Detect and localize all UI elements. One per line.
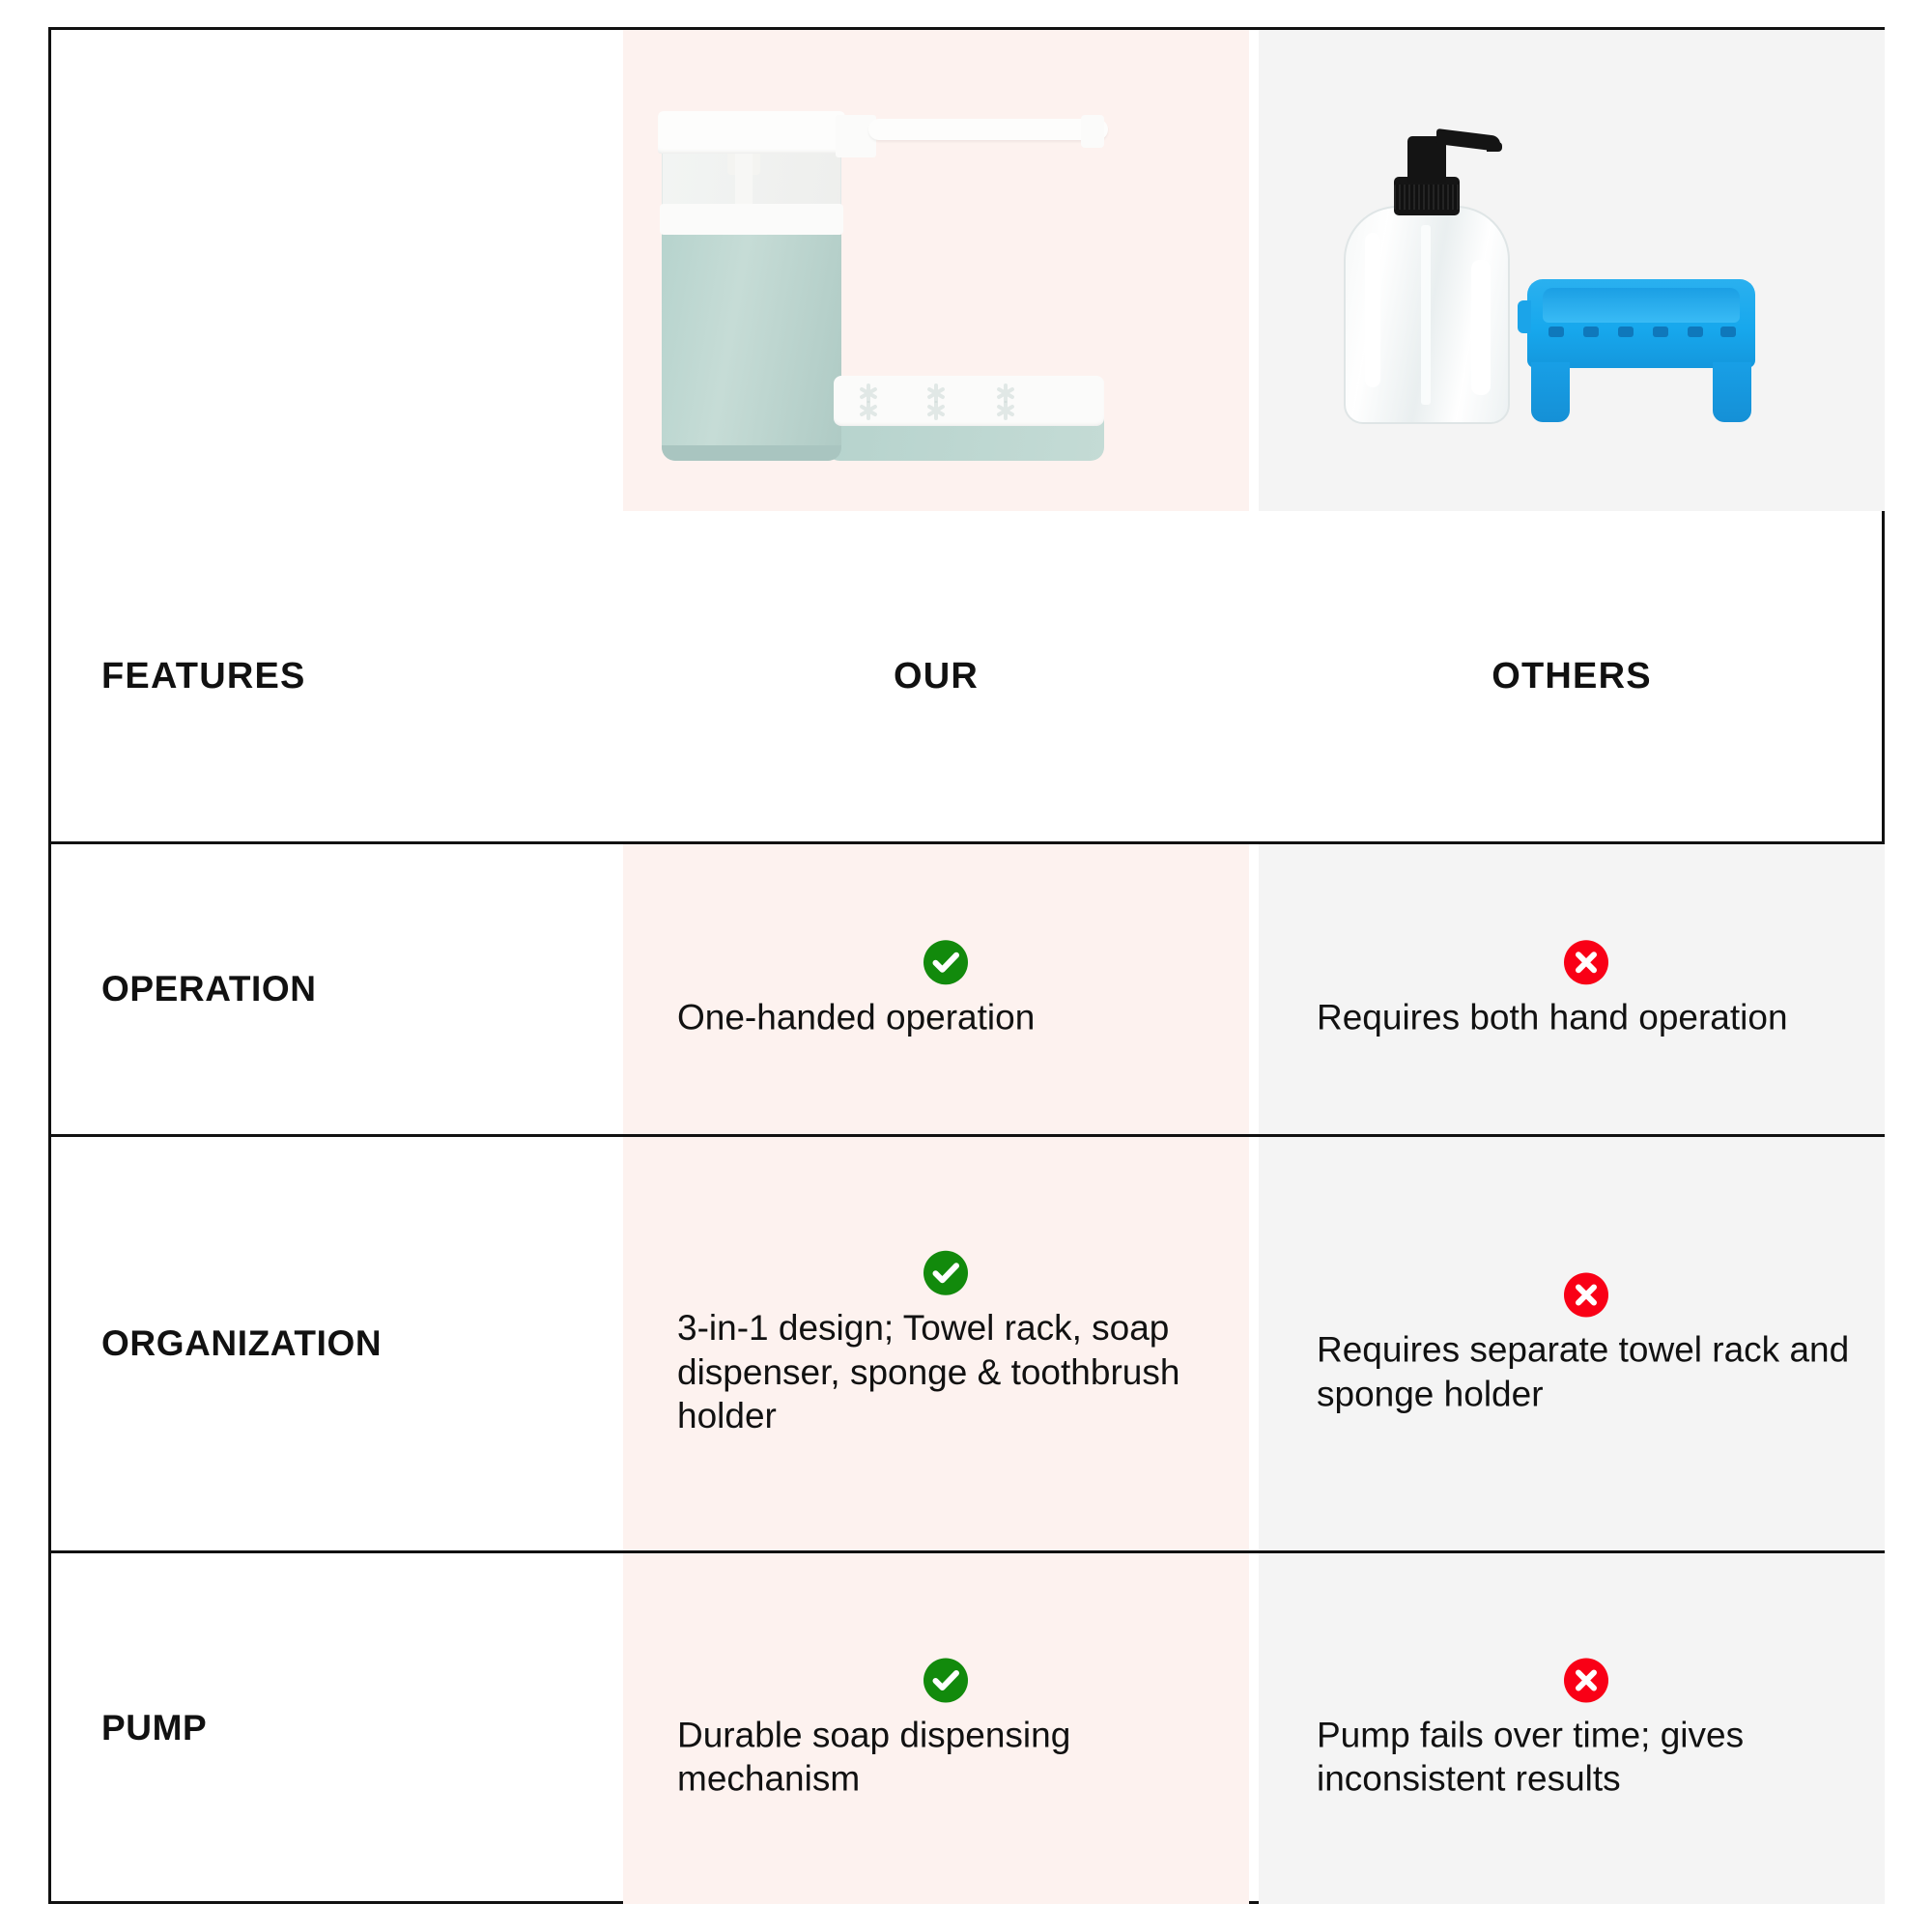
towel-rack-arm <box>868 119 1108 140</box>
operation-our-text: One-handed operation <box>671 995 1220 1039</box>
pump-others-value: Pump fails over time; gives inconsistent… <box>1259 1657 1885 1801</box>
operation-others-value: Requires both hand operation <box>1259 939 1885 1039</box>
clear-pump-bottle-illustration <box>1344 125 1510 424</box>
operation-others-cell: Requires both hand operation <box>1259 844 1885 1134</box>
image-row-features-cell <box>51 30 623 511</box>
pump-our-value: Durable soap dispensing mechanism <box>623 1657 1249 1801</box>
features-column-heading: FEATURES <box>51 511 306 841</box>
drain-hole-icon <box>924 399 948 422</box>
others-product-stage <box>1259 30 1885 511</box>
organization-others-cell: Requires separate towel rack and sponge … <box>1259 1137 1885 1550</box>
bottle-collar-ridges <box>1394 185 1460 210</box>
soap-dish-drain-slot <box>1720 327 1736 337</box>
dispenser-white-collar <box>660 204 843 235</box>
soap-dish-inner-well <box>1543 288 1740 323</box>
pump-others-cell: Pump fails over time; gives inconsistent… <box>1259 1553 1885 1904</box>
row-divider <box>51 1550 1882 1553</box>
perforated-drain-tray <box>834 376 1104 426</box>
feature-row-organization: ORGANIZATION 3-in-1 design; Towel rack, … <box>51 1137 1882 1550</box>
feature-label-operation: OPERATION <box>51 970 317 1009</box>
soap-dish-drain-slot <box>1583 327 1599 337</box>
organization-feature-cell: ORGANIZATION <box>51 1137 623 1550</box>
pump-feature-cell: PUMP <box>51 1553 623 1904</box>
others-product-image-cell <box>1259 30 1885 511</box>
pump-our-text: Durable soap dispensing mechanism <box>671 1713 1220 1801</box>
feature-row-operation: OPERATION One-handed operation <box>51 844 1882 1134</box>
organization-others-text: Requires separate towel rack and sponge … <box>1317 1328 1856 1416</box>
our-product-stage <box>623 30 1249 511</box>
dispenser-white-pump-cap <box>658 111 845 154</box>
operation-our-value: One-handed operation <box>623 939 1249 1039</box>
comparison-page: FEATURES OUR OTHERS OPERATION O <box>0 0 1932 1932</box>
operation-our-cell: One-handed operation <box>623 844 1249 1134</box>
features-heading-cell: FEATURES <box>51 511 623 841</box>
our-product-image-cell <box>623 30 1249 511</box>
our-heading-cell: OUR <box>623 511 1249 841</box>
cross-circle-icon <box>1563 939 1609 985</box>
others-heading-cell: OTHERS <box>1259 511 1885 841</box>
comparison-table: FEATURES OUR OTHERS OPERATION O <box>48 27 1885 1904</box>
cross-circle-icon <box>1563 1272 1609 1319</box>
towel-rack-tip <box>1081 115 1104 148</box>
drain-hole-icon <box>857 399 880 422</box>
soap-dish-drain-slot <box>1618 327 1634 337</box>
column-heading-row: FEATURES OUR OTHERS <box>51 511 1882 841</box>
feature-row-pump: PUMP Durable soap dispensing mechanism <box>51 1553 1882 1904</box>
dispenser-body-shadow <box>662 445 841 461</box>
cross-circle-icon <box>1563 1657 1609 1703</box>
bottle-dip-tube <box>1421 225 1431 405</box>
organization-our-text: 3-in-1 design; Towel rack, soap dispense… <box>671 1306 1220 1438</box>
drain-hole-icon <box>994 399 1017 422</box>
product-image-row <box>51 30 1882 511</box>
organization-our-value: 3-in-1 design; Towel rack, soap dispense… <box>623 1250 1249 1438</box>
soap-dish-side-tab <box>1518 300 1531 333</box>
soap-dish-leg <box>1713 362 1751 422</box>
soap-dish-drain-slot <box>1653 327 1668 337</box>
feature-label-pump: PUMP <box>51 1709 207 1748</box>
our-column-heading: OUR <box>623 511 1249 841</box>
soap-dish-leg <box>1531 362 1570 422</box>
dispenser-mint-body <box>662 221 841 461</box>
organization-our-cell: 3-in-1 design; Towel rack, soap dispense… <box>623 1137 1249 1550</box>
soap-dish-drain-slot <box>1688 327 1703 337</box>
check-circle-icon <box>923 1250 969 1296</box>
others-column-heading: OTHERS <box>1259 511 1885 841</box>
operation-others-text: Requires both hand operation <box>1317 995 1856 1039</box>
blue-soap-dish-illustration <box>1527 279 1755 424</box>
bottle-spout-tip <box>1487 142 1502 152</box>
check-circle-icon <box>923 939 969 985</box>
bottle-highlight-right <box>1471 260 1491 395</box>
pump-our-cell: Durable soap dispensing mechanism <box>623 1553 1249 1904</box>
operation-feature-cell: OPERATION <box>51 844 623 1134</box>
bottle-highlight-left <box>1365 233 1380 387</box>
check-circle-icon <box>923 1657 969 1703</box>
soap-dispenser-caddy-illustration <box>644 90 1232 476</box>
pump-others-text: Pump fails over time; gives inconsistent… <box>1317 1713 1856 1801</box>
organization-others-value: Requires separate towel rack and sponge … <box>1259 1272 1885 1416</box>
row-divider <box>51 841 1882 844</box>
soap-dish-drain-slot <box>1548 327 1564 337</box>
feature-label-organization: ORGANIZATION <box>51 1324 382 1364</box>
row-divider <box>51 1134 1882 1137</box>
